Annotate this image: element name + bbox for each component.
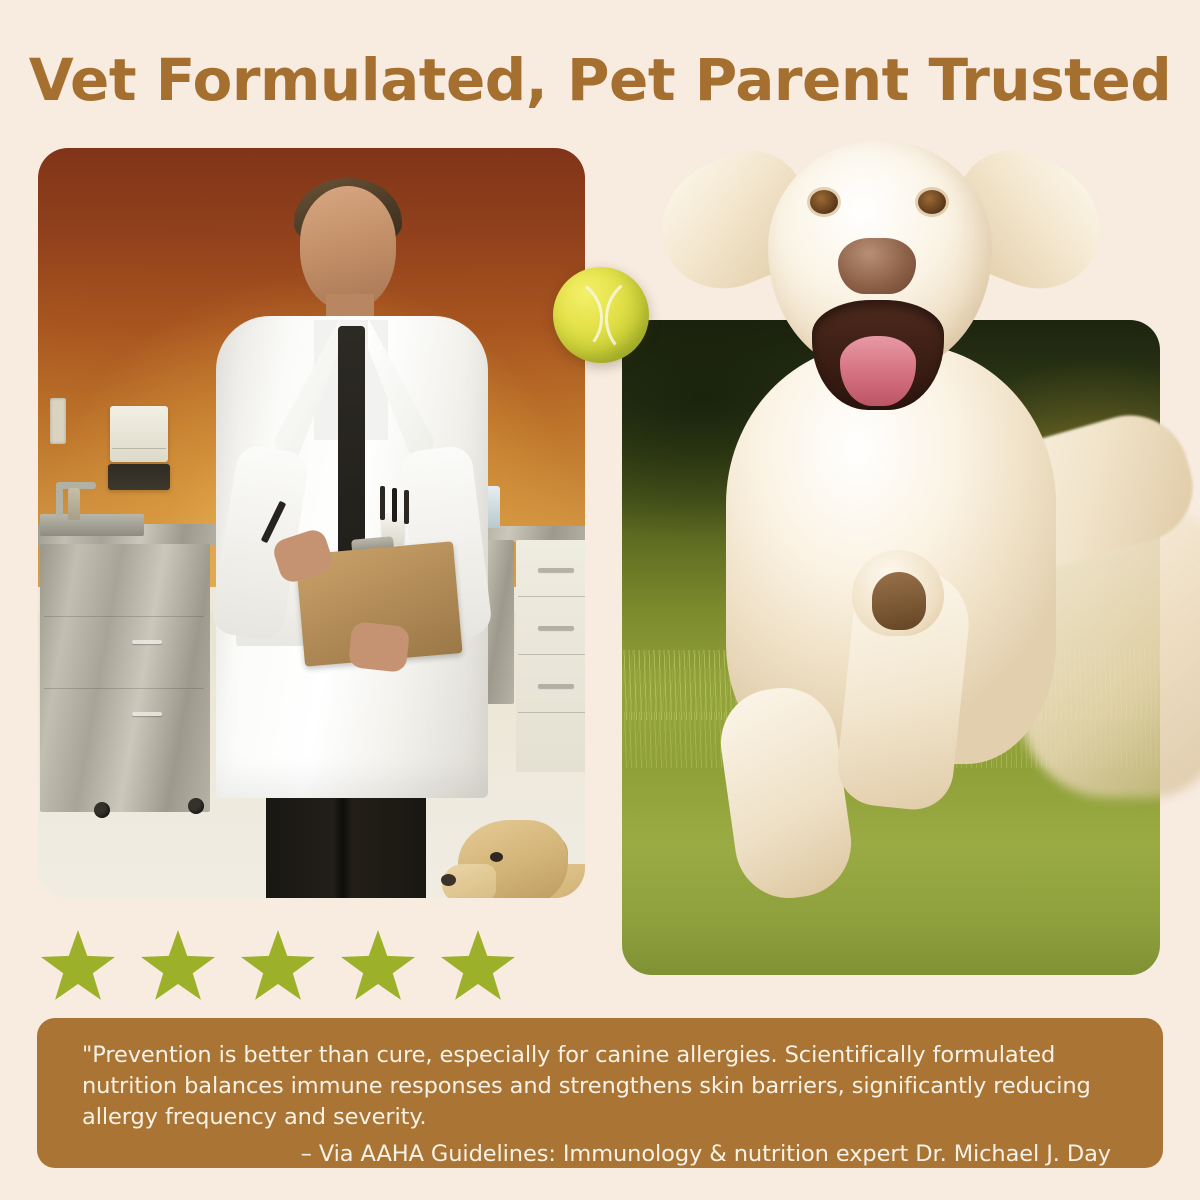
dog-nose xyxy=(838,238,916,294)
dog-eye-left xyxy=(810,190,838,214)
drawer-handle xyxy=(538,568,574,572)
cabinet-seam xyxy=(44,688,204,689)
field-light-glow xyxy=(622,320,1160,975)
vet-hand-holding xyxy=(348,621,410,673)
cabinet-caster xyxy=(188,798,204,814)
wall-switch-icon xyxy=(50,398,66,444)
pocket-pen xyxy=(380,486,385,520)
vet-head xyxy=(300,186,396,310)
drawer-seam xyxy=(518,596,585,597)
tennis-ball xyxy=(553,267,649,363)
vet-photo-card xyxy=(38,148,585,898)
drawer-seam xyxy=(518,654,585,655)
poster-root: Vet Formulated, Pet Parent Trusted xyxy=(0,0,1200,1200)
rating-star xyxy=(341,930,415,1002)
labrador-nose xyxy=(441,874,456,886)
drawer-handle xyxy=(538,626,574,630)
sink-basin xyxy=(40,514,144,536)
rating-star xyxy=(141,930,215,1002)
cabinet-seam xyxy=(44,616,204,617)
rating-star xyxy=(241,930,315,1002)
drawer-handle xyxy=(538,684,574,688)
wall-dispenser-icon xyxy=(110,406,168,462)
dog-ear-left xyxy=(642,134,828,307)
dispenser-line xyxy=(112,448,166,449)
quote-attribution: – Via AAHA Guidelines: Immunology & nutr… xyxy=(82,1139,1111,1170)
quote-body: "Prevention is better than cure, especia… xyxy=(82,1040,1129,1133)
rating-star xyxy=(441,930,515,1002)
star-rating xyxy=(41,930,515,1002)
cabinet-caster xyxy=(94,802,110,818)
rating-star xyxy=(41,930,115,1002)
grass-blades-near xyxy=(622,650,1160,720)
pocket-pen xyxy=(392,488,397,522)
paper-towel-dispenser-icon xyxy=(108,464,170,490)
dog-photo-card xyxy=(622,320,1160,975)
soap-bottle xyxy=(68,488,80,520)
page-title: Vet Formulated, Pet Parent Trusted xyxy=(0,46,1200,114)
labrador-eye xyxy=(490,852,503,862)
testimonial-quote-box: "Prevention is better than cure, especia… xyxy=(37,1018,1163,1168)
white-drawer-unit xyxy=(516,540,585,772)
grass-blades-mid xyxy=(622,712,1160,768)
pocket-pen xyxy=(404,490,409,524)
drawer-seam xyxy=(518,712,585,713)
dog-ear-right xyxy=(934,134,1120,307)
dog-eye-right xyxy=(918,190,946,214)
steel-cabinet-left xyxy=(40,544,210,812)
cabinet-handle xyxy=(132,712,162,716)
cabinet-handle xyxy=(132,640,162,644)
